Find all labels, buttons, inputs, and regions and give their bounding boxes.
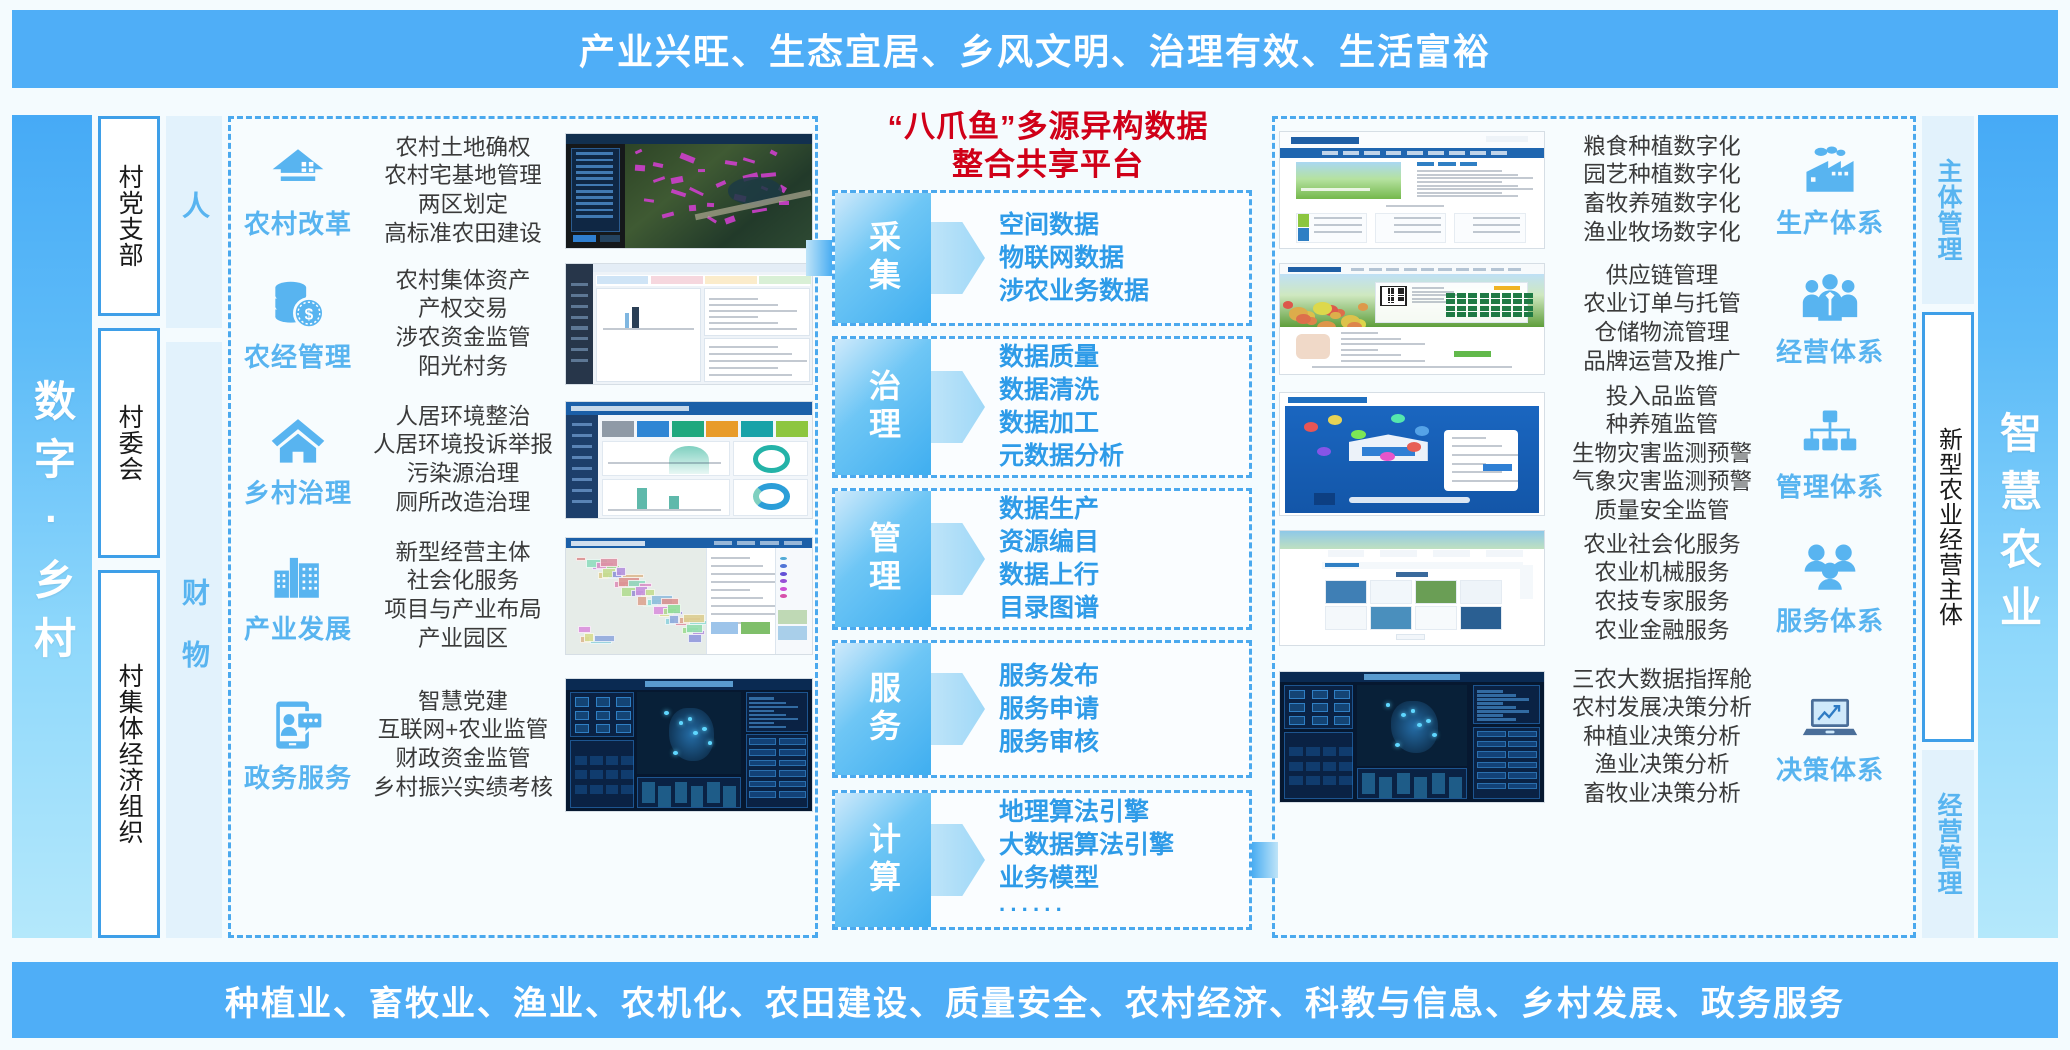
connector-tab-left (806, 240, 832, 276)
platform-stage-item: 数据加工 (999, 407, 1241, 440)
stage-arrow-icon (931, 673, 985, 745)
people-group-icon (1801, 270, 1859, 328)
system-item-list: 三农大数据指挥舱农村发展决策分析种植业决策分析渔业决策分析畜牧业决策分析 (1553, 666, 1771, 809)
system-item-list: 农业社会化服务农业机械服务农技专家服务农业金融服务 (1553, 531, 1771, 645)
stage-arrow-icon (931, 824, 985, 896)
buildings-icon (269, 547, 327, 605)
platform-stage-item: 服务发布 (999, 660, 1241, 693)
platform-stage-item: ······ (999, 895, 1241, 924)
system-icon-label: 管理体系 (1776, 467, 1884, 504)
module-item-list: 农村集体资产产权交易涉农资金监管阳光村务 (365, 267, 561, 381)
platform-stage-row[interactable]: 采集空间数据物联网数据涉农业务数据 (832, 190, 1252, 326)
system-item: 农业订单与托管 (1553, 290, 1771, 319)
module-icon-label: 农村改革 (244, 204, 352, 241)
platform-stage-row[interactable]: 计算地理算法引擎大数据算法引擎业务模型······ (832, 790, 1252, 930)
system-icon-group: 管理体系 (1771, 405, 1889, 504)
platform-stage-badge: 管理 (835, 491, 931, 627)
system-item: 畜牧养殖数字化 (1553, 190, 1771, 219)
platform-stage-item: 大数据算法引擎 (999, 829, 1241, 862)
module-icon-label: 乡村治理 (244, 473, 352, 510)
agri-system-row[interactable]: 供应链管理农业订单与托管仓储物流管理品牌运营及推广经营体系 (1275, 257, 1919, 381)
screenshot-thumbnail-bi-dashboard-light (565, 263, 813, 385)
bottom-banner: 种植业、畜牧业、渔业、农机化、农田建设、质量安全、农村经济、科教与信息、乡村发展… (12, 962, 2058, 1038)
platform-stage-badge: 采集 (835, 193, 931, 323)
system-item: 农技专家服务 (1553, 588, 1771, 617)
top-banner-text: 产业兴旺、生态宜居、乡风文明、治理有效、生活富裕 (579, 23, 1491, 75)
system-icon-group: 决策体系 (1771, 688, 1889, 787)
module-item: 产业园区 (365, 625, 561, 654)
module-item: 人居环境投诉举报 (365, 431, 561, 460)
top-banner: 产业兴旺、生态宜居、乡风文明、治理有效、生活富裕 (12, 10, 2058, 88)
stage-arrow-icon (931, 523, 985, 595)
system-item: 气象灾害监测预警 (1553, 468, 1771, 497)
resource-column: 人财物 (166, 116, 222, 938)
module-item: 项目与产业布局 (365, 596, 561, 625)
module-item: 阳光村务 (365, 353, 561, 382)
platform-stage-item: 资源编目 (999, 526, 1241, 559)
platform-stage-item: 业务模型 (999, 862, 1241, 895)
platform-stage-item: 数据上行 (999, 559, 1241, 592)
module-icon-label: 产业发展 (244, 609, 352, 646)
house-roof-icon (269, 142, 327, 200)
platform-stage-badge: 治理 (835, 339, 931, 475)
screenshot-thumbnail-province-map (565, 537, 813, 655)
system-icon-group: 经营体系 (1771, 270, 1889, 369)
screenshot-thumbnail-dark-command-center (565, 678, 813, 812)
platform-stage-item: 数据质量 (999, 341, 1241, 374)
org-box-label: 村党支部 (116, 164, 142, 268)
platform-stage-row[interactable]: 治理数据质量数据清洗数据加工元数据分析 (832, 336, 1252, 478)
system-icon-label: 服务体系 (1776, 601, 1884, 638)
platform-title-line2: 整合共享平台 (828, 146, 1268, 184)
connector-tab-right (1252, 842, 1278, 878)
system-icon-label: 经营体系 (1776, 332, 1884, 369)
module-item: 新型经营主体 (365, 539, 561, 568)
module-item: 智慧党建 (365, 688, 561, 717)
system-item: 质量安全监管 (1553, 497, 1771, 526)
system-item: 农村发展决策分析 (1553, 694, 1771, 723)
system-item: 生物灾害监测预警 (1553, 440, 1771, 469)
three-users-icon (1801, 539, 1859, 597)
village-module-row[interactable]: 农村改革农村土地确权农村宅基地管理两区划定高标准农田建设 (231, 129, 821, 253)
left-vertical-title: 数字·乡村 (22, 379, 83, 674)
coins-dollar-icon: $ (269, 275, 327, 333)
module-icon-group: 政务服务 (231, 696, 365, 795)
system-item: 粮食种植数字化 (1553, 133, 1771, 162)
village-module-row[interactable]: 产业发展新型经营主体社会化服务项目与产业布局产业园区 (231, 531, 821, 661)
laptop-chart-icon (1801, 688, 1859, 746)
resource-box-1: 人 (166, 116, 222, 328)
system-icon-label: 决策体系 (1776, 750, 1884, 787)
left-vertical-title-bar: 数字·乡村 (12, 115, 92, 938)
system-icon-label: 生产体系 (1776, 203, 1884, 240)
system-item: 种养殖监管 (1553, 411, 1771, 440)
screenshot-thumbnail-bi-dashboard-cards (565, 401, 813, 519)
module-icon-group: 产业发展 (231, 547, 365, 646)
module-item: 两区划定 (365, 191, 561, 220)
module-item: 高标准农田建设 (365, 220, 561, 249)
system-icon-group: 服务体系 (1771, 539, 1889, 638)
platform-stage-name: 治理 (860, 369, 906, 445)
module-item: 社会化服务 (365, 567, 561, 596)
system-item: 农业金融服务 (1553, 617, 1771, 646)
platform-stage-items: 空间数据物联网数据涉农业务数据 (999, 193, 1241, 323)
screenshot-thumbnail-satellite-map (565, 133, 813, 249)
right-label-column: 主体管理 新型农业经营主体 经营管理 (1922, 116, 1974, 938)
system-item: 农业机械服务 (1553, 559, 1771, 588)
label-subject-management: 主体管理 (1922, 116, 1974, 304)
module-item: 厕所改造治理 (365, 489, 561, 518)
module-item: 涉农资金监管 (365, 324, 561, 353)
system-item: 投入品监管 (1553, 383, 1771, 412)
platform-stage-item: 数据生产 (999, 493, 1241, 526)
platform-title-line1: “八爪鱼”多源异构数据 (828, 108, 1268, 146)
module-item: 乡村振兴实绩考核 (365, 774, 561, 803)
agri-system-row[interactable]: 投入品监管种养殖监管生物灾害监测预警气象灾害监测预警质量安全监管管理体系 (1275, 387, 1919, 521)
module-item: 农村土地确权 (365, 134, 561, 163)
system-item: 畜牧业决策分析 (1553, 780, 1771, 809)
svg-text:$: $ (305, 306, 314, 323)
org-box-label: 村委会 (116, 404, 142, 482)
module-item-list: 农村土地确权农村宅基地管理两区划定高标准农田建设 (365, 134, 561, 248)
platform-stage-item: 涉农业务数据 (999, 275, 1241, 308)
resource-box-label: 人 (174, 191, 214, 253)
bottom-banner-text: 种植业、畜牧业、渔业、农机化、农田建设、质量安全、农村经济、科教与信息、乡村发展… (225, 976, 1845, 1025)
platform-stage-item: 服务审核 (999, 726, 1241, 759)
label-new-agri-business-entity: 新型农业经营主体 (1922, 312, 1974, 742)
org-box-3[interactable]: 村集体经济组织 (98, 570, 160, 938)
screenshot-thumbnail-service-grid-portal (1279, 530, 1545, 646)
resource-box-2: 财物 (166, 342, 222, 938)
platform-stage-row[interactable]: 管理数据生产资源编目数据上行目录图谱 (832, 488, 1252, 630)
platform-stage-item: 数据清洗 (999, 374, 1241, 407)
agri-system-row[interactable]: 农业社会化服务农业机械服务农技专家服务农业金融服务服务体系 (1275, 523, 1919, 653)
system-item: 仓储物流管理 (1553, 319, 1771, 348)
platform-stage-items: 数据生产资源编目数据上行目录图谱 (999, 491, 1241, 627)
screenshot-thumbnail-gov-portal-green (1279, 131, 1545, 249)
platform-stage-item: 空间数据 (999, 209, 1241, 242)
label-business-management: 经营管理 (1922, 750, 1974, 938)
module-icon-group: 农村改革 (231, 142, 365, 241)
org-box-1[interactable]: 村党支部 (98, 116, 160, 316)
platform-stage-badge: 计算 (835, 793, 931, 927)
system-item-list: 投入品监管种养殖监管生物灾害监测预警气象灾害监测预警质量安全监管 (1553, 383, 1771, 526)
org-box-label: 村集体经济组织 (116, 663, 142, 845)
platform-title: “八爪鱼”多源异构数据 整合共享平台 (828, 108, 1268, 185)
home-icon (269, 411, 327, 469)
factory-icon (1801, 141, 1859, 199)
platform-stage-item: 服务申请 (999, 693, 1241, 726)
platform-stage-name: 采集 (860, 220, 906, 296)
platform-stage-item: 物联网数据 (999, 242, 1241, 275)
platform-stage-name: 管理 (860, 521, 906, 597)
module-item-list: 智慧党建互联网+农业监管财政资金监管乡村振兴实绩考核 (365, 688, 561, 802)
platform-stage-items: 地理算法引擎大数据算法引擎业务模型······ (999, 793, 1241, 927)
screenshot-thumbnail-dark-command-center (1279, 671, 1545, 803)
village-module-row[interactable]: $农经管理农村集体资产产权交易涉农资金监管阳光村务 (231, 259, 821, 389)
village-module-row[interactable]: 乡村治理人居环境整治人居环境投诉举报污染源治理厕所改造治理 (231, 395, 821, 525)
right-vertical-title-bar: 智慧农业 (1978, 115, 2058, 938)
agri-system-row[interactable]: 三农大数据指挥舱农村发展决策分析种植业决策分析渔业决策分析畜牧业决策分析决策体系 (1275, 663, 1919, 811)
platform-stage-item: 地理算法引擎 (999, 796, 1241, 829)
mobile-chat-icon (269, 696, 327, 754)
system-item: 渔业牧场数字化 (1553, 219, 1771, 248)
platform-stage-badge: 服务 (835, 643, 931, 775)
platform-stage-items: 服务发布服务申请服务审核 (999, 643, 1241, 775)
system-item: 供应链管理 (1553, 262, 1771, 291)
screenshot-thumbnail-quality-safety-blue (1279, 392, 1545, 516)
system-item: 园艺种植数字化 (1553, 161, 1771, 190)
system-item: 种植业决策分析 (1553, 723, 1771, 752)
village-module-row[interactable]: 政务服务智慧党建互联网+农业监管财政资金监管乡村振兴实绩考核 (231, 667, 821, 823)
stage-arrow-icon (931, 222, 985, 294)
module-item: 人居环境整治 (365, 403, 561, 432)
right-vertical-title: 智慧农业 (1988, 411, 2049, 643)
village-modules-panel: 农村改革农村土地确权农村宅基地管理两区划定高标准农田建设 $农经管理农村集体资产… (228, 116, 818, 938)
platform-stage-items: 数据质量数据清洗数据加工元数据分析 (999, 339, 1241, 475)
system-item: 渔业决策分析 (1553, 751, 1771, 780)
system-icon-group: 生产体系 (1771, 141, 1889, 240)
module-icon-group: 乡村治理 (231, 411, 365, 510)
platform-stage-name: 服务 (860, 671, 906, 747)
module-item-list: 人居环境整治人居环境投诉举报污染源治理厕所改造治理 (365, 403, 561, 517)
system-item-list: 粮食种植数字化园艺种植数字化畜牧养殖数字化渔业牧场数字化 (1553, 133, 1771, 247)
module-icon-label: 政务服务 (244, 758, 352, 795)
stage-arrow-icon (931, 371, 985, 443)
module-item: 污染源治理 (365, 460, 561, 489)
module-icon-group: $农经管理 (231, 275, 365, 374)
screenshot-thumbnail-traceability-portal (1279, 263, 1545, 375)
diagram-root: 产业兴旺、生态宜居、乡风文明、治理有效、生活富裕 数字·乡村 村党支部村委会村集… (0, 0, 2070, 1050)
system-item: 品牌运营及推广 (1553, 348, 1771, 377)
system-item: 三农大数据指挥舱 (1553, 666, 1771, 695)
module-item: 互联网+农业监管 (365, 716, 561, 745)
system-item-list: 供应链管理农业订单与托管仓储物流管理品牌运营及推广 (1553, 262, 1771, 376)
platform-stage-name: 计算 (860, 822, 906, 898)
module-item-list: 新型经营主体社会化服务项目与产业布局产业园区 (365, 539, 561, 653)
module-icon-label: 农经管理 (244, 337, 352, 374)
module-item: 农村集体资产 (365, 267, 561, 296)
org-tree-icon (1801, 405, 1859, 463)
org-box-2[interactable]: 村委会 (98, 328, 160, 558)
resource-box-label: 财物 (174, 578, 214, 702)
module-item: 产权交易 (365, 295, 561, 324)
platform-stage-row[interactable]: 服务服务发布服务申请服务审核 (832, 640, 1252, 778)
module-item: 财政资金监管 (365, 745, 561, 774)
platform-stage-item: 元数据分析 (999, 440, 1241, 473)
org-structure-column: 村党支部村委会村集体经济组织 (98, 116, 160, 938)
system-item: 农业社会化服务 (1553, 531, 1771, 560)
agriculture-systems-panel: 粮食种植数字化园艺种植数字化畜牧养殖数字化渔业牧场数字化生产体系 供应链管理农业… (1272, 116, 1916, 938)
module-item: 农村宅基地管理 (365, 162, 561, 191)
agri-system-row[interactable]: 粮食种植数字化园艺种植数字化畜牧养殖数字化渔业牧场数字化生产体系 (1275, 127, 1919, 253)
platform-stage-item: 目录图谱 (999, 592, 1241, 625)
